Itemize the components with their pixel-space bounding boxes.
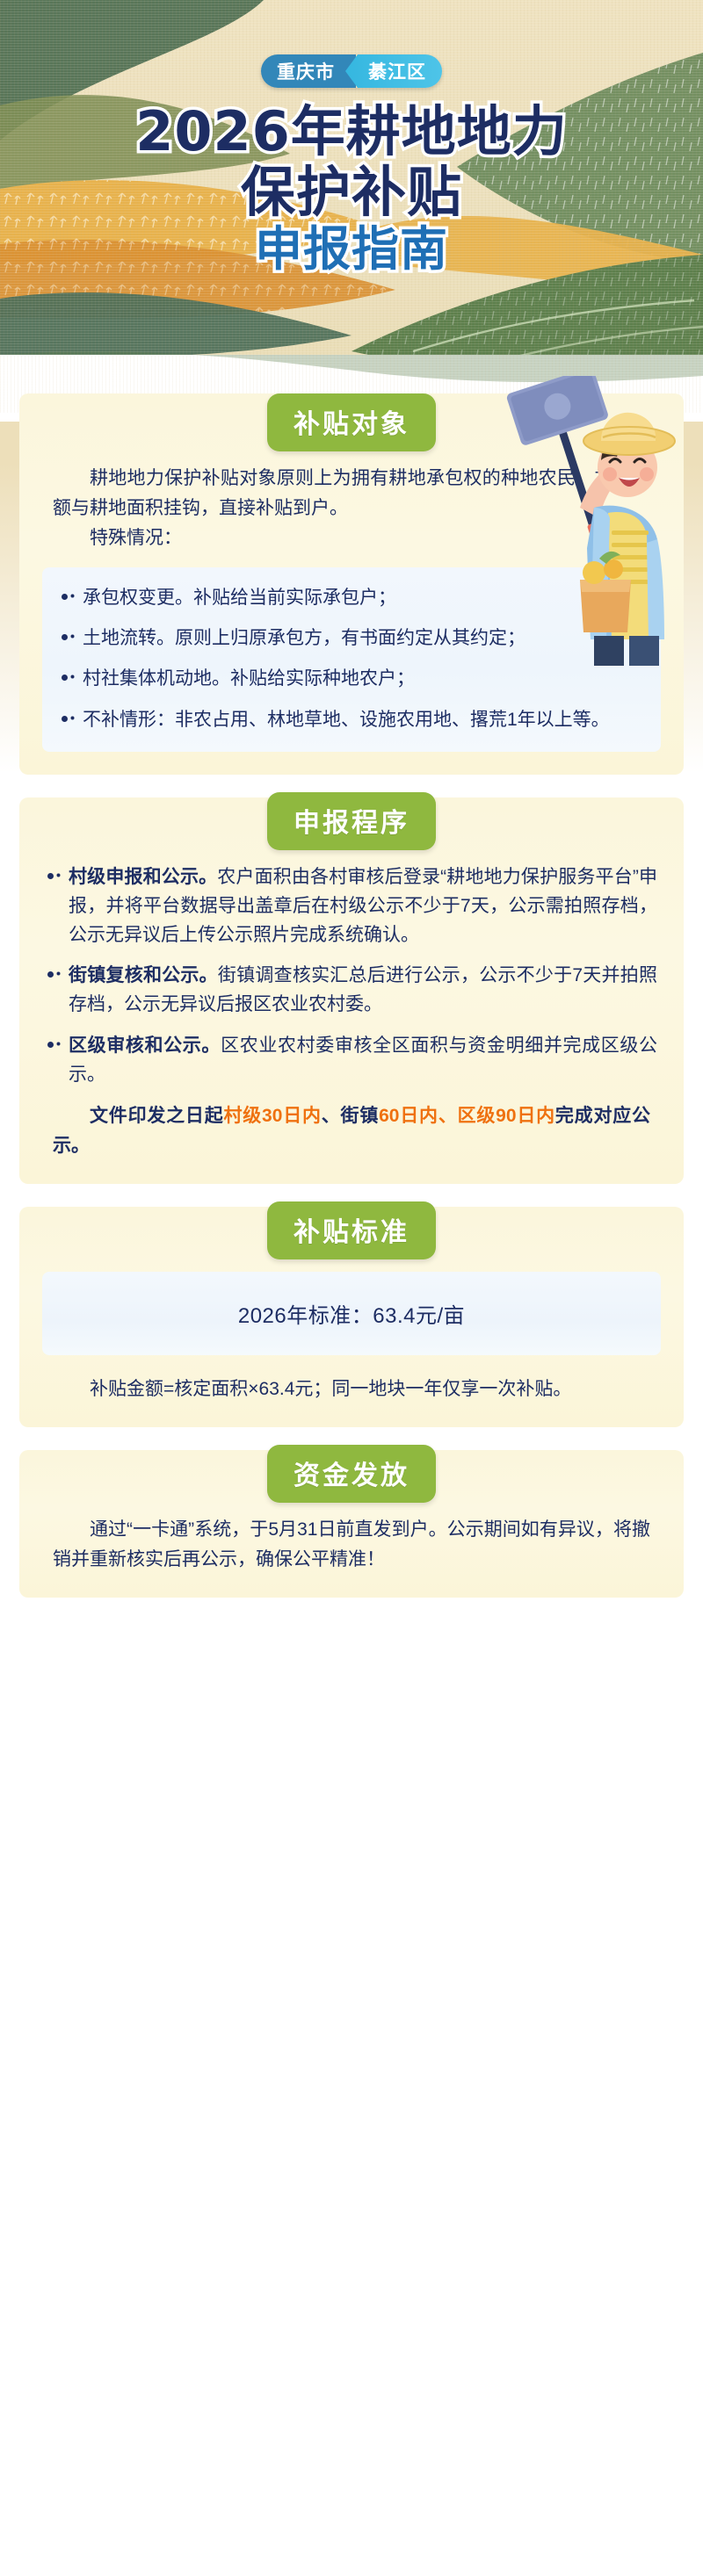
deadline-note: 文件印发之日起村级30日内、街镇60日内、区级90日内完成对应公示。 <box>19 1101 684 1161</box>
content-column: 补贴对象 耕地地力保护补贴对象原则上为拥有耕地承包权的种地农民，补贴数额与耕地面… <box>19 413 684 1620</box>
badge-district-label: 綦江区 <box>345 54 442 88</box>
list-item: 不补情形：非农占用、林地草地、设施农用地、撂荒1年以上等。 <box>60 705 643 734</box>
step-lead: 村级申报和公示。 <box>69 867 217 887</box>
section-application-procedure: 申报程序 村级申报和公示。农户面积由各村审核后登录“耕地地力保护服务平台”申报，… <box>19 797 684 1184</box>
list-item: 土地流转。原则上归原承包方，有书面约定从其约定； <box>60 624 643 653</box>
list-item: 承包权变更。补贴给当前实际承包户； <box>60 583 643 612</box>
fund-disbursement-paragraph: 通过“一卡通”系统，于5月31日前直发到户。公示期间如有异议，将撤销并重新核实后… <box>19 1515 684 1575</box>
procedure-step-list: 村级申报和公示。农户面积由各村审核后登录“耕地地力保护服务平台”申报，并将平台数… <box>46 862 657 1089</box>
region-badge: 重庆市 綦江区 <box>0 54 703 88</box>
section-fund-disbursement: 资金发放 通过“一卡通”系统，于5月31日前直发到户。公示期间如有异议，将撤销并… <box>19 1450 684 1598</box>
section-heading-application-procedure: 申报程序 <box>267 792 436 850</box>
section-subsidy-target: 补贴对象 耕地地力保护补贴对象原则上为拥有耕地承包权的种地农民，补贴数额与耕地面… <box>19 393 684 775</box>
list-item: 区级审核和公示。区农业农村委审核全区面积与资金明细并完成区级公示。 <box>46 1031 657 1089</box>
subsidy-target-paragraph-2: 特殊情况： <box>19 523 684 553</box>
title-line-2: 保护补贴 <box>0 164 703 220</box>
subsidy-formula: 补贴金额=核定面积×63.4元；同一地块一年仅享一次补贴。 <box>19 1375 684 1404</box>
deadline-prefix: 文件印发之日起 <box>90 1106 223 1126</box>
poster-title: 2026年耕地地力 保护补贴 申报指南 <box>0 104 703 279</box>
deadline-separator: 、街镇 <box>322 1106 379 1126</box>
title-line-1: 2026年耕地地力 <box>0 104 703 159</box>
section-heading-subsidy-standard: 补贴标准 <box>267 1201 436 1259</box>
section-heading-subsidy-target: 补贴对象 <box>267 393 436 451</box>
section-subsidy-standard: 补贴标准 2026年标准：63.4元/亩 补贴金额=核定面积×63.4元；同一地… <box>19 1207 684 1427</box>
standard-value-box: 2026年标准：63.4元/亩 <box>42 1272 661 1355</box>
subsidy-target-bullet-list: 承包权变更。补贴给当前实际承包户； 土地流转。原则上归原承包方，有书面约定从其约… <box>60 583 643 734</box>
infographic-poster: 重庆市 綦江区 2026年耕地地力 保护补贴 申报指南 <box>0 0 703 2576</box>
list-item: 村级申报和公示。农户面积由各村审核后登录“耕地地力保护服务平台”申报，并将平台数… <box>46 862 657 950</box>
section-heading-fund-disbursement: 资金发放 <box>267 1445 436 1503</box>
deadline-highlight-1: 村级30日内 <box>223 1106 321 1126</box>
list-item: 村社集体机动地。补贴给实际种地农户； <box>60 664 643 693</box>
step-lead: 区级审核和公示。 <box>69 1035 221 1056</box>
list-item: 街镇复核和公示。街镇调查核实汇总后进行公示，公示不少于7天并拍照存档，公示无异议… <box>46 961 657 1019</box>
subsidy-target-bullet-panel: 承包权变更。补贴给当前实际承包户； 土地流转。原则上归原承包方，有书面约定从其约… <box>42 567 661 752</box>
step-lead: 街镇复核和公示。 <box>69 965 218 985</box>
badge-city-label: 重庆市 <box>261 54 356 88</box>
subsidy-target-paragraph-1: 耕地地力保护补贴对象原则上为拥有耕地承包权的种地农民，补贴数额与耕地面积挂钩，直… <box>19 464 684 523</box>
title-line-3: 申报指南 <box>0 225 703 273</box>
deadline-highlight-2: 60日内、区级90日内 <box>379 1106 555 1126</box>
